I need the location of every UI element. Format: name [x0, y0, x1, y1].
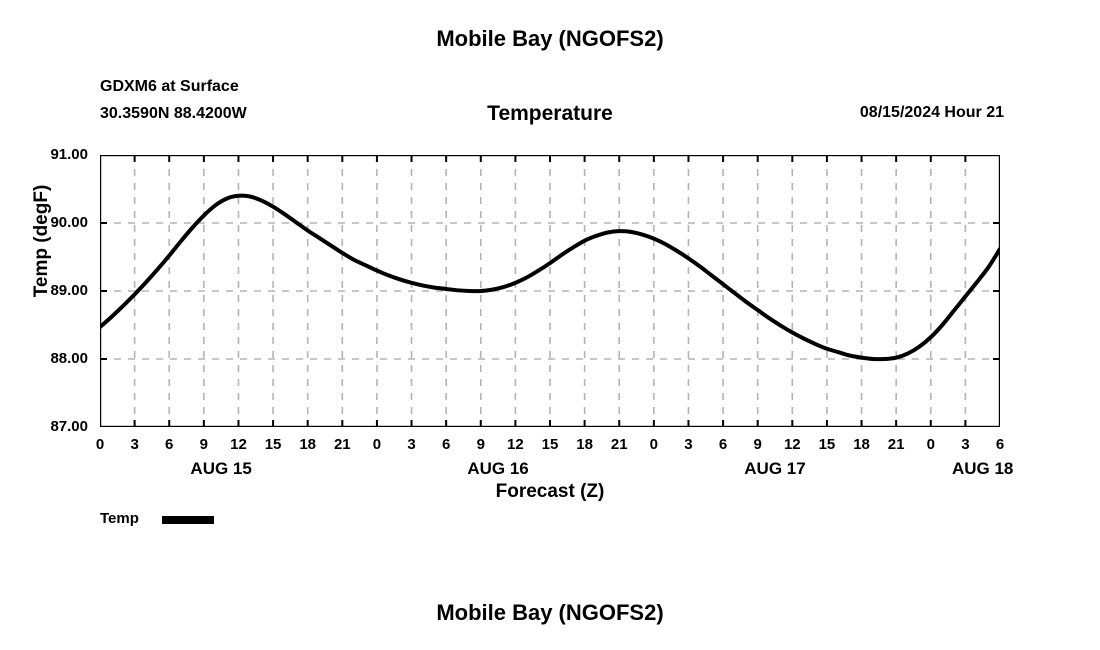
x-tick-label: 15	[535, 436, 565, 453]
x-axis-day-label: AUG 15	[161, 459, 281, 479]
x-tick-label: 21	[327, 436, 357, 453]
x-tick-label: 0	[362, 436, 392, 453]
forecast-run-label: 08/15/2024 Hour 21	[860, 104, 1004, 122]
x-tick-label: 9	[189, 436, 219, 453]
x-tick-label: 12	[500, 436, 530, 453]
x-tick-label: 12	[777, 436, 807, 453]
x-tick-label: 15	[258, 436, 288, 453]
x-tick-label: 18	[570, 436, 600, 453]
x-tick-label: 0	[916, 436, 946, 453]
y-tick-label: 87.00	[8, 418, 88, 435]
x-axis-day-label: AUG 17	[715, 459, 835, 479]
temperature-line-chart	[100, 155, 1000, 427]
y-tick-label: 89.00	[8, 282, 88, 299]
x-tick-label: 9	[466, 436, 496, 453]
x-tick-label: 21	[604, 436, 634, 453]
x-tick-label: 15	[812, 436, 842, 453]
x-tick-label: 9	[743, 436, 773, 453]
station-label: GDXM6 at Surface	[100, 78, 239, 96]
legend-item-temp-label: Temp	[100, 510, 139, 527]
x-tick-label: 6	[431, 436, 461, 453]
x-tick-label: 18	[847, 436, 877, 453]
series-temp-line	[100, 196, 1000, 360]
x-tick-label: 3	[950, 436, 980, 453]
legend-item-temp-swatch	[162, 516, 214, 524]
x-tick-label: 6	[154, 436, 184, 453]
page-title-top: Mobile Bay (NGOFS2)	[0, 26, 1100, 52]
x-axis-day-label: AUG 16	[438, 459, 558, 479]
x-axis-label: Forecast (Z)	[100, 481, 1000, 503]
x-tick-label: 6	[985, 436, 1015, 453]
x-tick-label: 18	[293, 436, 323, 453]
x-tick-label: 0	[639, 436, 669, 453]
x-tick-label: 3	[673, 436, 703, 453]
y-tick-label: 90.00	[8, 214, 88, 231]
x-tick-label: 6	[708, 436, 738, 453]
y-tick-label: 91.00	[8, 146, 88, 163]
x-tick-label: 3	[120, 436, 150, 453]
x-tick-label: 21	[881, 436, 911, 453]
x-tick-label: 0	[85, 436, 115, 453]
x-tick-label: 12	[223, 436, 253, 453]
y-tick-label: 88.00	[8, 350, 88, 367]
chart-plot-area	[100, 155, 1000, 427]
x-axis-day-label: AUG 18	[923, 459, 1043, 479]
page-title-bottom: Mobile Bay (NGOFS2)	[0, 600, 1100, 626]
x-tick-label: 3	[397, 436, 427, 453]
